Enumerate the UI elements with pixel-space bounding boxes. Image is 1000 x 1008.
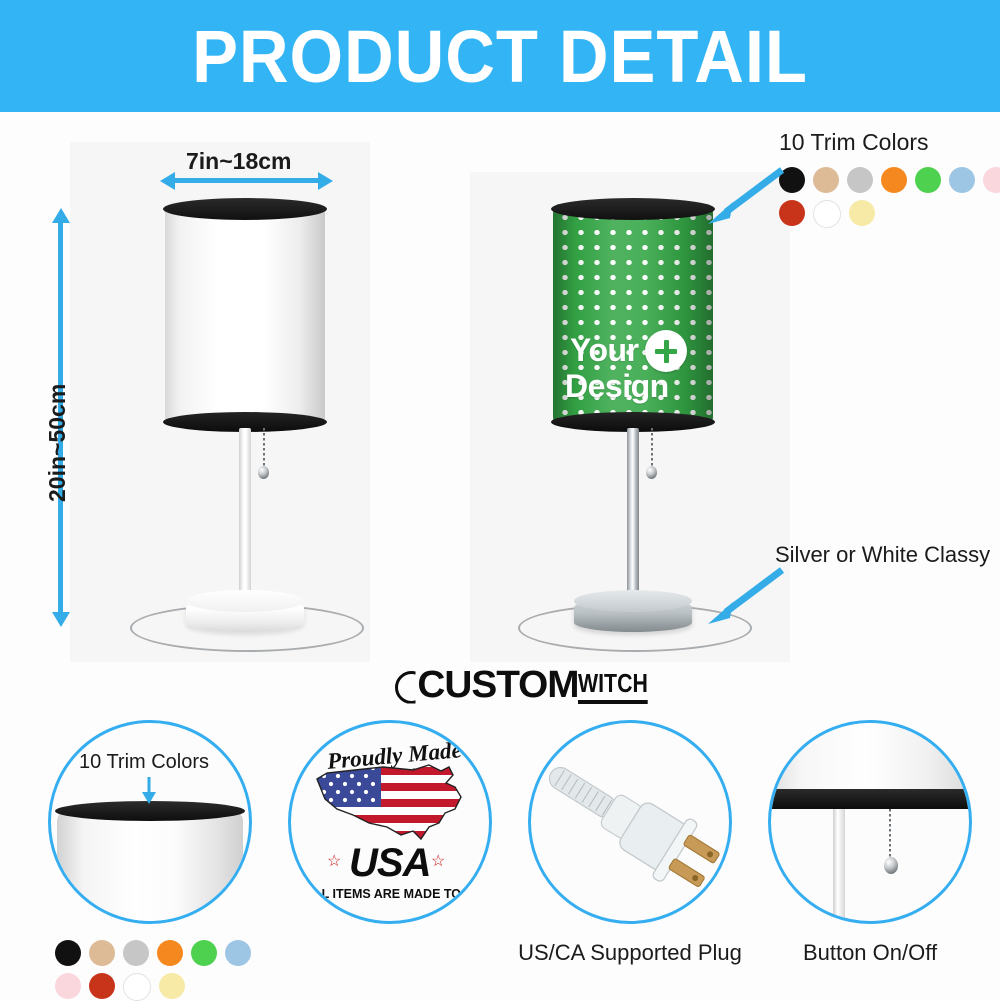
trim-colors-title: 10 Trim Colors [779, 129, 929, 156]
feature-circle-plug [528, 720, 732, 924]
swatch-pink[interactable] [983, 167, 1000, 193]
swatch-light-blue-b[interactable] [225, 940, 251, 966]
trim-color-swatches-top [779, 167, 1000, 235]
design-text-line2: Design [565, 368, 669, 405]
pull-chain-custom[interactable] [651, 428, 653, 470]
product-stage: 10 Trim Colors 7in~18cm 20in~50cm [0, 112, 1000, 1000]
height-arrow-bottom-head [52, 612, 70, 627]
height-dimension-label: 20in~50cm [44, 384, 71, 502]
switch-shade-trim [771, 789, 969, 809]
usa-flag-map-icon [309, 761, 475, 847]
usa-country-label: USA [349, 841, 430, 886]
swatch-green-b[interactable] [191, 940, 217, 966]
width-arrow-right-head [318, 172, 333, 190]
usa-star-right-icon: ☆ [431, 851, 445, 871]
pull-chain-ball-custom[interactable] [646, 466, 657, 479]
lamp-base-white-top [186, 590, 304, 612]
brand-logo: CUSTOMWITCH [395, 664, 663, 707]
width-dimension-label: 7in~18cm [186, 148, 292, 175]
brand-name-secondary: WITCH [578, 668, 648, 704]
swatch-white-b[interactable] [123, 973, 151, 1001]
feature-circle-trim-colors: 10 Trim Colors [48, 720, 252, 924]
swatch-light-blue[interactable] [949, 167, 975, 193]
feature-trim-label: 10 Trim Colors [79, 751, 209, 774]
lamp-base-silver-top [574, 590, 692, 612]
pull-chain[interactable] [263, 428, 265, 470]
switch-pull-chain[interactable] [889, 809, 891, 861]
swatch-tan[interactable] [813, 167, 839, 193]
switch-pole [833, 809, 845, 921]
usa-tagline: ALL ITEMS ARE MADE TO ORDER! [305, 887, 489, 901]
lamp-shade-custom[interactable]: Your Design [553, 204, 713, 426]
trim-colors-callout-arrow [700, 162, 790, 232]
usa-star-left-icon: ☆ [327, 851, 341, 871]
switch-pull-chain-ball[interactable] [884, 857, 898, 874]
feature-circle-made-in-usa: Proudly Made in the [288, 720, 492, 924]
swatch-black-b[interactable] [55, 940, 81, 966]
feature-circle-switch [768, 720, 972, 924]
shade-trim-top-custom [551, 198, 715, 220]
trim-down-arrow-icon [137, 775, 161, 805]
shade-surface [165, 204, 325, 426]
swatch-yellow[interactable] [849, 200, 875, 226]
plus-icon-bar-v [664, 340, 669, 363]
swatch-gray[interactable] [847, 167, 873, 193]
brand-name-primary: CUSTOM [417, 664, 578, 707]
base-finish-callout-arrow [700, 562, 790, 632]
swatch-green[interactable] [915, 167, 941, 193]
swatch-orange-b[interactable] [157, 940, 183, 966]
swatch-pink-b[interactable] [55, 973, 81, 999]
us-plug-icon [531, 723, 729, 921]
base-finish-callout-label: Silver or White Classy [775, 542, 990, 568]
shade-trim-top [163, 198, 327, 220]
swatch-white[interactable] [813, 200, 841, 228]
trim-color-swatches-bottom [55, 940, 285, 1008]
plus-icon[interactable] [645, 330, 687, 372]
pull-chain-ball[interactable] [258, 466, 269, 479]
swatch-tan-b[interactable] [89, 940, 115, 966]
feature-plug-label: US/CA Supported Plug [505, 940, 755, 966]
shade-closeup-body [57, 811, 243, 921]
design-text-line1: Your [570, 332, 639, 369]
width-arrow-line [172, 178, 320, 183]
swatch-orange[interactable] [881, 167, 907, 193]
swatch-red-b[interactable] [89, 973, 115, 999]
feature-switch-label: Button On/Off [755, 940, 985, 966]
switch-shade-body [771, 723, 969, 791]
swatch-gray-b[interactable] [123, 940, 149, 966]
swatch-yellow-b[interactable] [159, 973, 185, 999]
width-arrow-left-head [160, 172, 175, 190]
page-title: PRODUCT DETAIL [35, 18, 965, 96]
height-arrow-top-head [52, 208, 70, 223]
lamp-shade-white [165, 204, 325, 426]
header-banner: PRODUCT DETAIL [0, 0, 1000, 112]
